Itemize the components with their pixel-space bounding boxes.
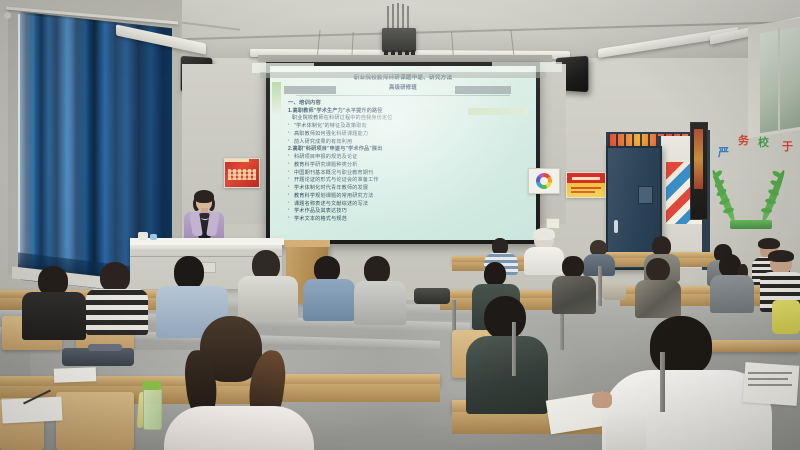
slide-item: 2.高职"科研项目"申遂与"学术作品"展出: [288, 146, 526, 154]
classroom-photo: 职业院校教师科研课题申遂、研究方法 高级研修班 一、培训内容 1.高职教师"学术…: [0, 0, 800, 450]
door-window-panel: [638, 186, 653, 204]
desk-leg: [512, 322, 516, 376]
desk-front: [260, 384, 440, 402]
presenter-hair: [194, 190, 214, 203]
handbag: [602, 282, 626, 300]
water-bottle: [143, 388, 162, 430]
slide-item: 教育科学规划课题的常用研究方法: [288, 193, 526, 201]
slide-item: 教育科学研究课题种类分析: [288, 162, 526, 170]
audience-member-clothing: [772, 300, 800, 334]
slide-item: "学术体制化"的特征及政策取向: [288, 123, 526, 131]
slide-item: 开题论证的形式与论证会的准备工作: [288, 177, 526, 185]
paper-line: [748, 372, 792, 374]
presenter: [178, 192, 230, 242]
color-wheel-poster: [528, 168, 560, 194]
slide-title-occlusion: [284, 86, 336, 94]
slide-item: 学术作品及其表达技巧: [288, 208, 526, 216]
lectern-top: [284, 240, 330, 247]
chair-back: [56, 392, 134, 450]
laurel-char: 校: [758, 134, 769, 150]
bottle-cap: [142, 381, 161, 390]
front-wall-panel-right: [540, 64, 566, 224]
laurel-banner: [730, 220, 772, 229]
paper-line: [748, 378, 788, 380]
safety-notice-sign: [566, 172, 606, 198]
projector-mount: [392, 4, 394, 30]
desk-leg: [660, 352, 665, 412]
slide-item: 学术体制化时代青年教师的发展: [288, 185, 526, 193]
projector-mount: [397, 3, 399, 30]
right-window-glass: [760, 27, 800, 133]
door-handle[interactable]: [614, 220, 618, 233]
desk-leg: [598, 266, 602, 306]
projector-mount: [407, 6, 409, 30]
board-rail-shadow: [260, 72, 546, 78]
bag-handle: [88, 344, 122, 351]
paper-line: [748, 384, 792, 386]
podium-item: [138, 232, 148, 240]
right-window-mullion: [778, 28, 780, 132]
bag-on-desk: [414, 288, 450, 304]
board-rail: [258, 55, 552, 61]
curtain-rod-finial: [4, 12, 11, 19]
projector-mount: [402, 4, 404, 30]
laurel-char: 严: [718, 144, 729, 160]
slide-divider: [296, 95, 510, 96]
wall-switch[interactable]: [546, 218, 560, 229]
projector-mount: [387, 6, 389, 30]
tissue: [54, 367, 96, 382]
ceiling-projector: [382, 28, 416, 52]
laurel-char: 于: [782, 138, 793, 154]
slide-item: 高职教师如何强化科研课题能力: [288, 131, 526, 139]
podium-item: [150, 234, 157, 240]
hand: [592, 392, 612, 408]
red-honor-poster: [224, 158, 260, 188]
slide-item: 前人研究成果的有效利用: [288, 139, 526, 147]
slide-section-heading: 一、培训内容: [288, 99, 526, 107]
slide-title-occlusion: [455, 86, 511, 94]
slide-item: 学术文本的格式与规范: [288, 216, 526, 224]
slide-item: 科研项目申报的规范及论证: [288, 154, 526, 162]
